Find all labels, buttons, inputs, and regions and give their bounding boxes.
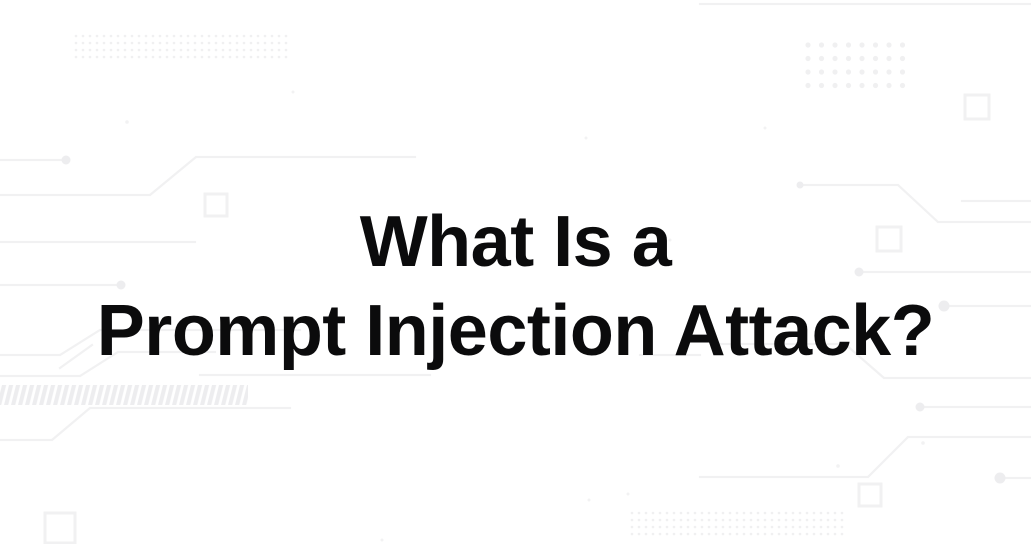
dot-grid-top-right (805, 42, 905, 88)
title-line-1: What Is a (0, 198, 1031, 287)
slide-root: What Is a Prompt Injection Attack? (0, 0, 1031, 544)
node-left-upper (62, 156, 71, 165)
dot-grid-top-left (75, 35, 288, 59)
title-line-2: Prompt Injection Attack? (0, 287, 1031, 376)
node-upper-right-small (797, 182, 804, 189)
square-right-top (965, 95, 989, 119)
square-bottom-left (45, 513, 75, 543)
page-title: What Is a Prompt Injection Attack? (0, 198, 1031, 376)
square-bottom-right (859, 484, 881, 506)
dot-grid-bottom-center (631, 512, 844, 536)
node-far-right (995, 473, 1006, 484)
hatch-stripe-band (0, 385, 248, 405)
node-right-lower (916, 403, 925, 412)
